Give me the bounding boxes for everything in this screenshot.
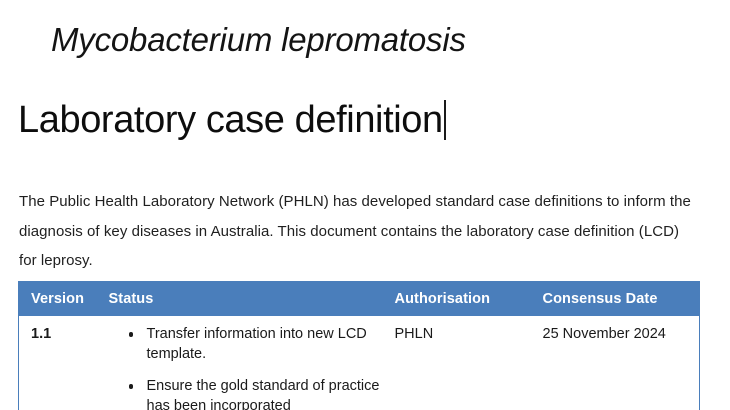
bullet-icon	[129, 332, 134, 337]
column-header-consensus-date: Consensus Date	[537, 282, 700, 317]
document-page: Mycobacterium lepromatosis Laboratory ca…	[0, 0, 730, 410]
cell-version: 1.1	[19, 316, 105, 410]
text-caret	[444, 100, 446, 140]
cell-status: Transfer information into new LCD templa…	[105, 316, 389, 410]
table-header: Version Status Authorisation Consensus D…	[19, 282, 700, 317]
table-body: 1.1 Transfer information into new LCD te…	[19, 316, 700, 410]
column-header-authorisation: Authorisation	[389, 282, 537, 317]
column-header-status: Status	[105, 282, 389, 317]
table-row: 1.1 Transfer information into new LCD te…	[19, 316, 700, 410]
cell-consensus-date: 25 November 2024	[537, 316, 700, 410]
list-item-label: Ensure the gold standard of practice has…	[147, 378, 380, 410]
version-history-table: Version Status Authorisation Consensus D…	[18, 281, 700, 410]
table-header-row: Version Status Authorisation Consensus D…	[19, 282, 700, 317]
status-bullet-list: Transfer information into new LCD templa…	[105, 325, 389, 410]
list-item: Ensure the gold standard of practice has…	[105, 377, 389, 410]
intro-paragraph: The Public Health Laboratory Network (PH…	[19, 187, 694, 276]
cell-authorisation: PHLN	[389, 316, 537, 410]
column-header-version: Version	[19, 282, 105, 317]
list-item: Transfer information into new LCD templa…	[105, 325, 389, 364]
document-subject-heading: Mycobacterium lepromatosis	[51, 18, 466, 62]
page-title: Laboratory case definition	[18, 97, 443, 143]
document-title-line: Laboratory case definition	[18, 96, 446, 144]
bullet-icon	[129, 384, 134, 389]
list-item-label: Transfer information into new LCD templa…	[147, 326, 367, 362]
